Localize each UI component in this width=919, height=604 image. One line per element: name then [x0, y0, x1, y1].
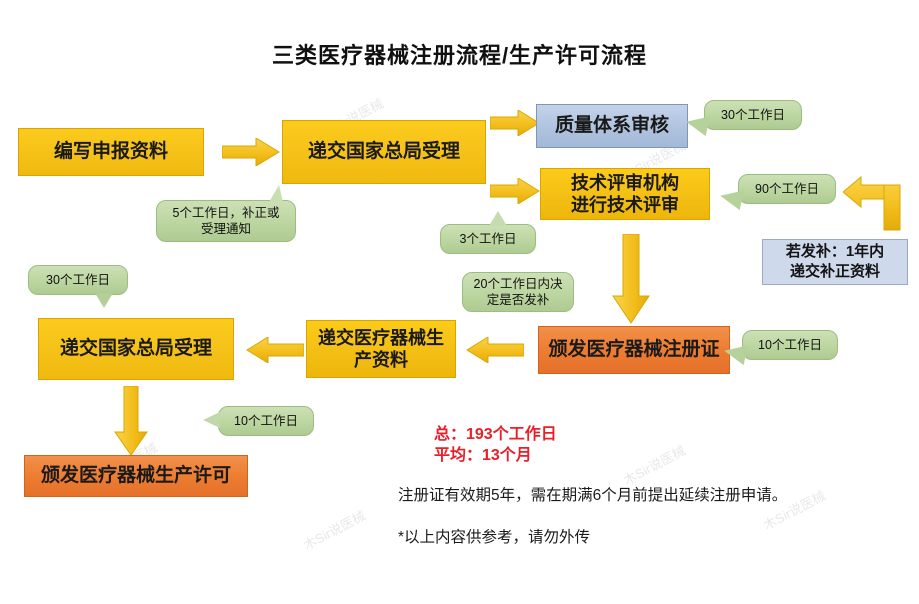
- node-submit-production-docs[interactable]: 递交医疗器械生 产资料: [306, 320, 456, 378]
- callout-tail: [489, 211, 507, 226]
- note-supplementary-materials: 若发补：1年内 递交补正资料: [762, 239, 908, 285]
- callout-30-working-days-audit: 30个工作日: [704, 100, 802, 130]
- page-title: 三类医疗器械注册流程/生产许可流程: [0, 38, 919, 70]
- node-submit-nmpa-2[interactable]: 递交国家总局受理: [38, 318, 234, 380]
- node-label: 编写申报资料: [54, 140, 168, 164]
- callout-text: 10个工作日: [234, 413, 298, 429]
- callout-text: 3个工作日: [460, 231, 517, 247]
- callout-tail: [722, 341, 748, 365]
- arrow-down-1: [612, 234, 650, 324]
- callout-text: 90个工作日: [755, 181, 819, 197]
- callout-10-working-days-registration: 10个工作日: [742, 330, 838, 360]
- callout-text: 30个工作日: [721, 107, 785, 123]
- summary-total: 总：193个工作日: [434, 423, 557, 446]
- callout-text: 5个工作日，补正或 受理通知: [173, 205, 280, 238]
- callout-3-working-days: 3个工作日: [440, 224, 536, 254]
- callout-tail: [203, 412, 220, 428]
- node-label: 递交医疗器械生 产资料: [318, 327, 444, 372]
- node-submit-nmpa-1[interactable]: 递交国家总局受理: [282, 120, 486, 184]
- footnote-disclaimer: *以上内容供参考，请勿外传: [398, 525, 590, 547]
- node-issue-registration-certificate[interactable]: 颁发医疗器械注册证: [538, 326, 730, 374]
- callout-tail: [718, 186, 744, 210]
- summary-average: 平均：13个月: [434, 444, 532, 467]
- node-technical-review[interactable]: 技术评审机构 进行技术评审: [540, 168, 710, 220]
- callout-tail: [95, 293, 113, 308]
- callout-30-working-days-submit: 30个工作日: [28, 265, 128, 295]
- node-label: 颁发医疗器械生产许可: [41, 464, 231, 488]
- callout-5-working-days: 5个工作日，补正或 受理通知: [156, 200, 296, 242]
- node-label: 递交国家总局受理: [308, 140, 460, 164]
- callout-tail: [269, 185, 283, 202]
- watermark: 木Sir说医械: [620, 440, 689, 489]
- callout-20-working-days: 20个工作日内决 定是否发补: [462, 272, 574, 312]
- callout-tail: [684, 112, 710, 136]
- node-quality-system-audit[interactable]: 质量体系审核: [536, 104, 688, 148]
- arrow-elbow-left: [843, 170, 905, 232]
- arrow-right-3: [490, 178, 540, 204]
- flowchart-canvas: 木Sir说医械 木Sir说医械 木Sir说医械 木Sir说医械 木Sir说医械 …: [0, 0, 919, 604]
- callout-90-working-days: 90个工作日: [738, 174, 836, 204]
- node-label: 技术评审机构 进行技术评审: [571, 172, 679, 217]
- arrow-left-2: [466, 337, 524, 363]
- callout-text: 10个工作日: [758, 337, 822, 353]
- arrow-right-2: [490, 110, 540, 136]
- arrow-right-1: [222, 138, 280, 166]
- callout-text: 20个工作日内决 定是否发补: [474, 276, 563, 309]
- node-issue-production-permit[interactable]: 颁发医疗器械生产许可: [24, 455, 248, 497]
- node-write-application[interactable]: 编写申报资料: [18, 128, 204, 176]
- arrow-left-1: [246, 337, 304, 363]
- callout-10-working-days-permit: 10个工作日: [218, 406, 314, 436]
- arrow-down-2: [114, 386, 148, 456]
- node-label: 质量体系审核: [555, 114, 669, 138]
- node-label: 递交国家总局受理: [60, 337, 212, 361]
- node-label: 颁发医疗器械注册证: [548, 338, 719, 362]
- footnote-validity: 注册证有效期5年，需在期满6个月前提出延续注册申请。: [398, 483, 787, 505]
- watermark: 木Sir说医械: [300, 505, 369, 554]
- note-text: 若发补：1年内 递交补正资料: [786, 242, 884, 283]
- callout-text: 30个工作日: [46, 272, 110, 288]
